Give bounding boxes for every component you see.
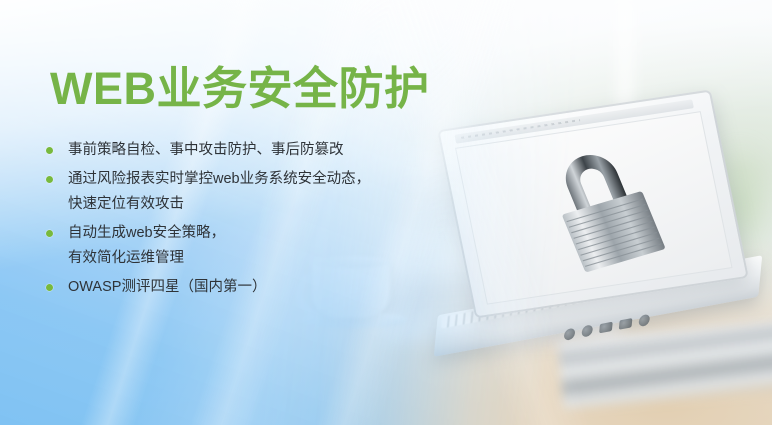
feature-list: 事前策略自检、事中攻击防护、事后防篡改 通过风险报表实时掌控web业务系统安全动… [46,138,426,304]
bullet-dot-icon [46,147,53,154]
bullet-dot-icon [46,176,53,183]
page-title: WEB业务安全防护 [50,66,430,111]
list-item: 通过风险报表实时掌控web业务系统安全动态， 快速定位有效攻击 [46,167,426,217]
bullet-dot-icon [46,284,53,291]
list-item-line: 有效简化运维管理 [68,246,426,271]
list-item-line: 通过风险报表实时掌控web业务系统安全动态， [68,167,426,192]
list-item-line: 事前策略自检、事中攻击防护、事后防篡改 [68,138,426,163]
list-item: OWASP测评四星（国内第一） [46,275,426,300]
list-item-line: 自动生成web安全策略， [68,221,426,246]
list-item: 自动生成web安全策略， 有效简化运维管理 [46,221,426,271]
web-security-banner: WEB业务安全防护 事前策略自检、事中攻击防护、事后防篡改 通过风险报表实时掌控… [0,0,772,425]
list-item: 事前策略自检、事中攻击防护、事后防篡改 [46,138,426,163]
list-item-line: 快速定位有效攻击 [68,192,426,217]
banner-content: WEB业务安全防护 事前策略自检、事中攻击防护、事后防篡改 通过风险报表实时掌控… [0,0,772,425]
list-item-line: OWASP测评四星（国内第一） [68,275,426,300]
bullet-dot-icon [46,230,53,237]
